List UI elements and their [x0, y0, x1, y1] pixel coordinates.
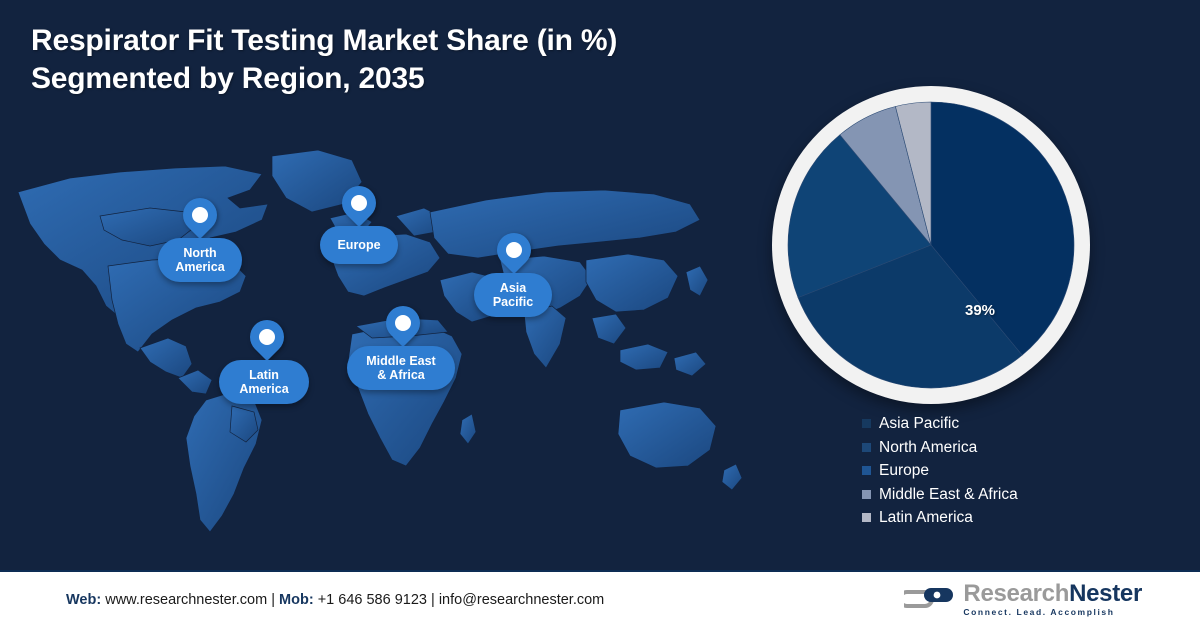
- pie-chart-graphic[interactable]: [787, 101, 1075, 389]
- legend-label: North America: [879, 439, 977, 456]
- footer-separator-1: |: [271, 592, 275, 608]
- legend-swatch-icon: [862, 513, 871, 522]
- legend-label: Asia Pacific: [879, 415, 959, 432]
- legend-item-latin-america[interactable]: Latin America: [862, 506, 1152, 530]
- map-marker-label-europe: Europe: [320, 226, 398, 264]
- footer-web-label: Web:: [66, 592, 101, 608]
- legend-item-north-america[interactable]: North America: [862, 436, 1152, 460]
- legend-swatch-icon: [862, 443, 871, 452]
- logo-word-research: Research: [963, 580, 1069, 607]
- footer-email-value[interactable]: info@researchnester.com: [439, 592, 604, 608]
- legend-item-europe[interactable]: Europe: [862, 459, 1152, 483]
- logo-word-nester: Nester: [1069, 580, 1142, 607]
- footer-bar: Web: www.researchnester.com | Mob: +1 64…: [0, 570, 1200, 628]
- footer-web-value[interactable]: www.researchnester.com: [105, 592, 267, 608]
- footer-contact-line: Web: www.researchnester.com | Mob: +1 64…: [66, 592, 604, 608]
- page-title: Respirator Fit Testing Market Share (in …: [31, 22, 771, 98]
- page-title-line-1: Respirator Fit Testing Market Share (in …: [31, 22, 771, 60]
- landmasses: [18, 150, 742, 532]
- world-map-graphic: [0, 120, 760, 560]
- pie-slice-value-label: 39%: [965, 302, 995, 319]
- footer-mob-label: Mob:: [279, 592, 314, 608]
- legend-item-asia-pacific[interactable]: Asia Pacific: [862, 412, 1152, 436]
- logo-tagline: Connect. Lead. Accomplish: [963, 607, 1142, 617]
- pie-chart-panel: 39%: [760, 78, 1130, 408]
- legend-swatch-icon: [862, 419, 871, 428]
- map-marker-label-north-america: North America: [158, 238, 242, 282]
- map-marker-label-latin-america: Latin America: [219, 360, 309, 404]
- legend-label: Latin America: [879, 509, 973, 526]
- map-marker-label-middle-east-africa: Middle East & Africa: [347, 346, 455, 390]
- chain-link-logo-icon: [904, 584, 954, 614]
- footer-separator-2: |: [431, 592, 435, 608]
- logo-wordmark: ResearchNester: [963, 581, 1142, 606]
- legend-item-middle-east-africa[interactable]: Middle East & Africa: [862, 483, 1152, 507]
- page-title-line-2: Segmented by Region, 2035: [31, 60, 771, 98]
- world-map-panel: North America Europe Asia Pacific Middle…: [0, 120, 760, 560]
- legend-swatch-icon: [862, 466, 871, 475]
- legend-label: Europe: [879, 462, 929, 479]
- chart-legend: Asia Pacific North America Europe Middle…: [862, 412, 1152, 530]
- map-marker-label-asia-pacific: Asia Pacific: [474, 273, 552, 317]
- footer-mob-value[interactable]: +1 646 586 9123: [318, 592, 427, 608]
- legend-label: Middle East & Africa: [879, 486, 1018, 503]
- research-nester-logo[interactable]: ResearchNester Connect. Lead. Accomplish: [904, 581, 1142, 617]
- legend-swatch-icon: [862, 490, 871, 499]
